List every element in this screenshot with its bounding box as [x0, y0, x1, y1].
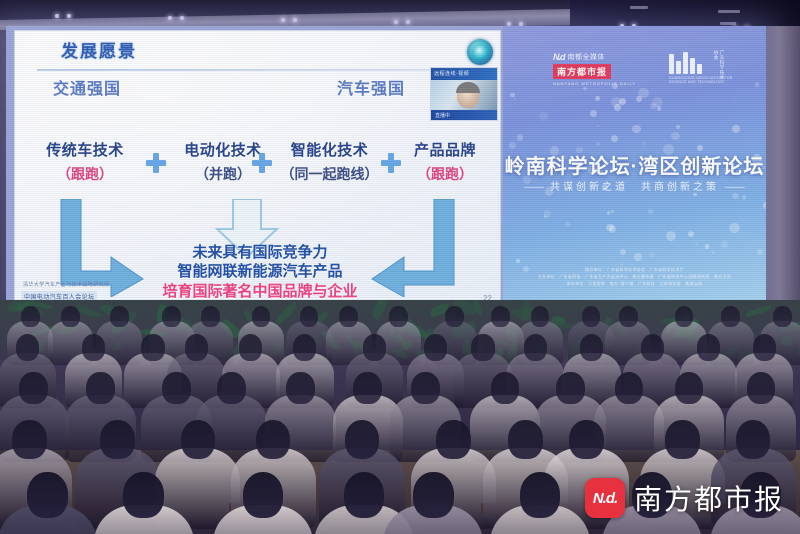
- goal-auto-power: 汽车强国: [337, 75, 405, 99]
- audience-member-head: [508, 420, 543, 459]
- audience-member-head: [61, 306, 80, 327]
- audience-member-head: [721, 306, 740, 327]
- tech-item-3: 产品品牌 （跟跑）: [395, 139, 495, 184]
- audience-member-head: [389, 306, 408, 327]
- bokeh-dot: [649, 252, 655, 258]
- forum-backdrop: N.d 南都全媒体 南方都市报 NANFANG METROPOLIS DAILY…: [503, 26, 766, 311]
- goal-transport-power: 交通强国: [53, 75, 121, 99]
- tech-status: （同一起跑线）: [267, 164, 392, 184]
- bokeh-dot: [676, 125, 680, 129]
- audience-member-head: [243, 472, 284, 518]
- audience-member-head: [19, 372, 48, 404]
- bokeh-dot: [732, 193, 738, 199]
- audience-member-head: [675, 372, 704, 404]
- audience-member-head: [16, 334, 39, 361]
- audience-member-head: [520, 472, 561, 518]
- audience-member-head: [123, 472, 164, 518]
- video-inset-footer-text: 直播中: [435, 112, 450, 119]
- spotlight: [180, 16, 184, 20]
- bokeh-dot: [735, 97, 738, 100]
- bokeh-dot: [509, 142, 516, 149]
- video-inset-frame: [431, 80, 497, 110]
- bokeh-dot: [517, 134, 523, 140]
- nd-mark-zh: 南都全媒体: [568, 52, 606, 62]
- audience-member-head: [162, 372, 191, 404]
- spotlight: [168, 16, 172, 20]
- spotlight: [281, 18, 285, 22]
- tech-name: 产品品牌: [395, 139, 495, 160]
- bokeh-dot: [595, 96, 600, 101]
- bokeh-dot: [642, 141, 646, 145]
- bokeh-dot: [611, 97, 620, 106]
- audience-member-head: [524, 334, 547, 361]
- backdrop-logos: N.d 南都全媒体 南方都市报 NANFANG METROPOLIS DAILY…: [503, 52, 766, 86]
- association-name-en: GUANGDONG ASSOCIATION FOR SCIENCE AND TE…: [669, 76, 749, 84]
- audience-member-head: [286, 372, 315, 404]
- spotlight: [67, 14, 71, 18]
- audience-member-head: [300, 306, 319, 327]
- bokeh-dot: [596, 142, 600, 146]
- audience-member-head: [110, 306, 129, 327]
- audience-member-head: [162, 306, 181, 327]
- audience-member-head: [491, 372, 520, 404]
- audience-member-head: [256, 420, 291, 459]
- bokeh-dot: [763, 202, 766, 209]
- audience-member-head: [21, 306, 40, 327]
- audience-member-head: [363, 334, 386, 361]
- audience-member-head: [252, 306, 271, 327]
- bokeh-dot: [620, 249, 627, 256]
- audience-member-head: [201, 306, 220, 327]
- bokeh-dot: [729, 223, 739, 233]
- bokeh-dot: [671, 132, 679, 140]
- bokeh-dot: [606, 224, 614, 232]
- audience-member-head: [615, 372, 644, 404]
- nd-sub-label: NANFANG METROPOLIS DAILY: [553, 81, 645, 86]
- audience-member-head: [747, 372, 776, 404]
- slide-title-rule: [37, 69, 469, 71]
- bokeh-dot: [539, 112, 548, 121]
- outcome-block: 未来具有国际竞争力 智能网联新能源汽车产品 培育国际著名中国品牌与企业: [135, 243, 385, 302]
- video-inset-header: 远程连线·视频: [431, 68, 497, 80]
- circular-emblem-icon: [467, 39, 493, 65]
- audience-member-head: [345, 420, 380, 459]
- tech-status: （跟跑）: [395, 164, 495, 184]
- audience-member-head: [665, 420, 700, 459]
- audience-member-head: [344, 472, 385, 518]
- credit-line-1: 指导单位：广东省科学技术协会 广东省科学技术厅: [503, 266, 766, 273]
- bokeh-dot: [666, 231, 676, 241]
- bokeh-dot: [657, 106, 661, 110]
- audience-member-head: [12, 420, 47, 459]
- bokeh-dot: [516, 259, 520, 263]
- audience-member-head: [697, 334, 720, 361]
- conference-photo: 发展愿景 交通强国 汽车强国 远程连线·视频 直播中: [0, 0, 800, 534]
- bokeh-dot: [705, 244, 709, 248]
- bokeh-dot: [632, 125, 641, 134]
- audience-member-head: [424, 334, 447, 361]
- bokeh-dot: [648, 209, 654, 215]
- audience-member-head: [353, 372, 382, 404]
- subtitle-text: 共谋创新之道 共商创新之策: [550, 182, 719, 193]
- forum-subtitle: —— 共谋创新之道 共商创新之策 ——: [503, 178, 766, 193]
- audience-member-head: [82, 334, 105, 361]
- audience-member-head: [773, 306, 792, 327]
- tech-status: （跟跑）: [25, 164, 145, 184]
- audience-member-head: [736, 420, 771, 459]
- nd-badge-mark: N.d.: [593, 490, 617, 507]
- audience-member-head: [641, 334, 664, 361]
- audience-member-head: [569, 420, 604, 459]
- spotlight: [406, 20, 410, 24]
- audience-member-head: [413, 472, 454, 518]
- bokeh-dot: [583, 87, 587, 91]
- video-thumbnail-icon: 远程连线·视频 直播中: [430, 67, 498, 121]
- forum-title: 岭南科学论坛·湾区创新论坛: [503, 150, 766, 179]
- credit-line-3: 承办单位：万里智库 南方+客户端 广东科技 江苏科技报 奥维云网: [503, 280, 766, 287]
- audience-member-head: [293, 334, 316, 361]
- subtitle-dash-left: ——: [524, 182, 544, 193]
- bokeh-dot: [638, 88, 649, 99]
- tech-name: 智能化技术: [267, 139, 392, 160]
- bokeh-dot: [607, 211, 611, 215]
- audience-member-head: [86, 372, 115, 404]
- presentation-slide: 发展愿景 交通强国 汽车强国 远程连线·视频 直播中: [14, 30, 501, 308]
- audience-member-head: [471, 334, 494, 361]
- audience-member-head: [411, 372, 440, 404]
- audience-member-head: [556, 372, 585, 404]
- audience-member-head: [580, 334, 603, 361]
- audience-member-head: [27, 472, 68, 518]
- bokeh-dot: [590, 110, 597, 117]
- audience-member-head: [675, 306, 694, 327]
- audience-member-head: [619, 306, 638, 327]
- nd-mark: N.d: [553, 52, 565, 62]
- bokeh-dot: [721, 241, 728, 248]
- speaker-hair: [456, 82, 480, 93]
- bokeh-dot: [544, 210, 552, 218]
- bokeh-dot: [732, 125, 740, 133]
- bars-glyph: [669, 52, 702, 74]
- audience-member-head: [339, 306, 358, 327]
- bokeh-dot: [634, 253, 642, 261]
- building-bars-icon: 广东科学技术协会 GUANGDONG ASSOCIATION FOR SCIEN…: [669, 50, 749, 86]
- bokeh-dot: [513, 97, 517, 101]
- bokeh-dot: [742, 195, 747, 200]
- wall-pillar: [766, 26, 800, 326]
- spotlight: [55, 14, 59, 18]
- forum-credits: 指导单位：广东省科学技术协会 广东省科学技术厅 主办单位：广东省科协 广东省生产…: [503, 266, 766, 287]
- spotlight: [394, 20, 398, 24]
- bokeh-dot: [688, 231, 694, 237]
- tech-name: 传统车技术: [25, 139, 145, 160]
- bokeh-dot: [712, 251, 715, 254]
- video-inset-footer: 直播中: [431, 110, 497, 120]
- audience-member-head: [141, 334, 164, 361]
- video-inset-header-text: 远程连线·视频: [434, 70, 469, 77]
- slide-footnote-1: 清华大学汽车产业与技术战略研究院: [23, 281, 109, 288]
- bokeh-dot: [693, 193, 696, 196]
- bokeh-dot: [597, 125, 600, 128]
- outcome-line-1: 未来具有国际竞争力: [135, 243, 385, 262]
- nd-badge-icon: N.d.: [585, 478, 625, 518]
- bokeh-dot: [611, 135, 618, 142]
- watermark: N.d. 南方都市报: [585, 478, 784, 518]
- watermark-brand-name: 南方都市报: [634, 478, 784, 518]
- led-projection-screen: 发展愿景 交通强国 汽车强国 远程连线·视频 直播中: [6, 26, 766, 311]
- bokeh-dot: [565, 222, 569, 226]
- audience-member-head: [185, 334, 208, 361]
- bokeh-dot: [757, 249, 763, 255]
- audience-member-head: [531, 306, 550, 327]
- technology-row: 传统车技术 （跟跑） 电动化技术 （并跑） 智能化技术 （同一起跑线） 产品品牌…: [15, 139, 500, 197]
- audience-member-head: [100, 420, 135, 459]
- tech-item-2: 智能化技术 （同一起跑线）: [267, 139, 392, 184]
- outcome-line-2: 智能网联新能源汽车产品: [135, 262, 385, 281]
- slide-title: 发展愿景: [61, 37, 137, 62]
- audience-member-head: [491, 306, 510, 327]
- spotlight: [293, 18, 297, 22]
- credit-line-2: 主办单位：广东省科协 广东省生产力促进中心 南方都市报 广东省科技中心战略研究所…: [503, 273, 766, 280]
- outcome-line-3: 培育国际著名中国品牌与企业: [135, 282, 385, 302]
- audience-member-head: [753, 334, 776, 361]
- audience-member-head: [239, 334, 262, 361]
- audience-member-head: [445, 306, 464, 327]
- media-logo: N.d 南都全媒体 南方都市报 NANFANG METROPOLIS DAILY: [553, 52, 645, 86]
- bokeh-dot: [695, 243, 698, 246]
- tech-item-0: 传统车技术 （跟跑）: [25, 139, 145, 184]
- subtitle-dash-right: ——: [725, 182, 745, 193]
- audience-member-head: [217, 372, 246, 404]
- bokeh-dot: [611, 210, 613, 212]
- nd-red-label: 南方都市报: [553, 64, 611, 79]
- audience-member-head: [181, 420, 216, 459]
- audience-member-head: [436, 420, 471, 459]
- audience-member-head: [582, 306, 601, 327]
